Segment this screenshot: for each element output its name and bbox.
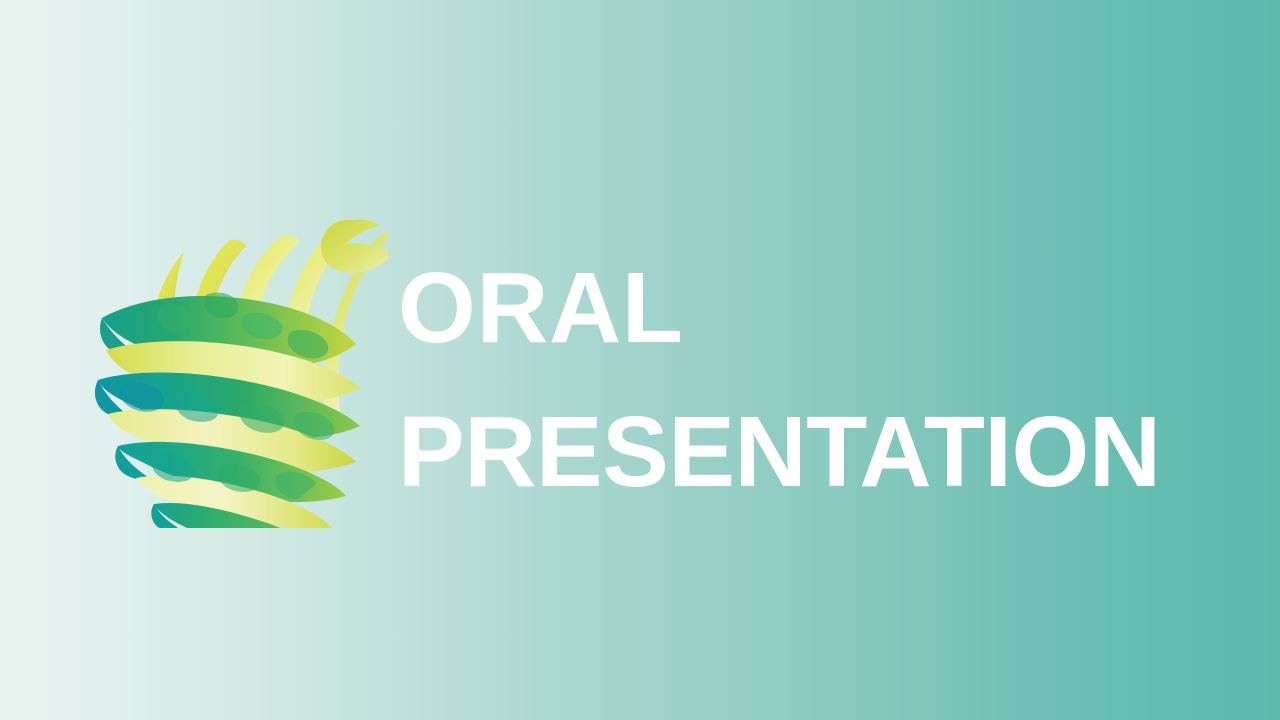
globe-ribbon-leaf-logo bbox=[88, 198, 388, 528]
logo-globe-bands bbox=[95, 296, 360, 528]
title-line-oral: ORAL bbox=[398, 236, 1218, 380]
slide-title: ORAL PRESENTATION bbox=[398, 236, 1218, 524]
title-line-presentation: PRESENTATION bbox=[398, 380, 1218, 524]
presentation-slide: ORAL PRESENTATION bbox=[0, 0, 1280, 720]
